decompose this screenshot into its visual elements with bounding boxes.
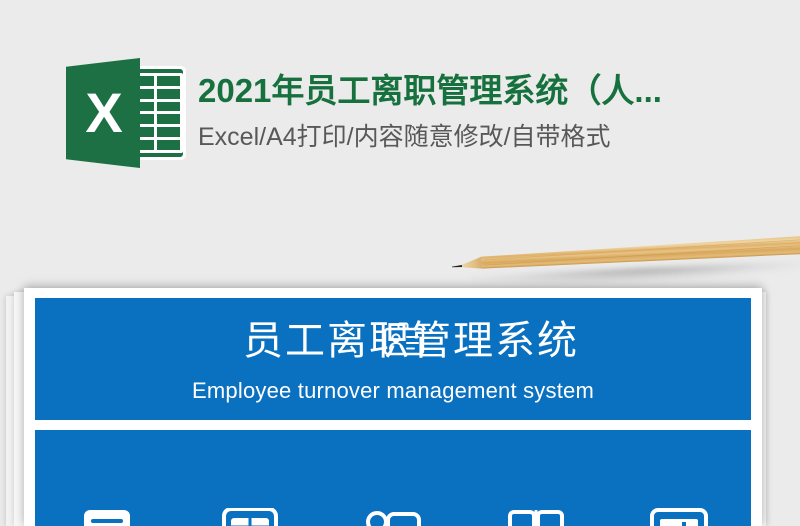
page-subtitle: Excel/A4打印/内容随意修改/自带格式 <box>198 119 662 157</box>
excel-grid-cell <box>157 127 181 137</box>
excel-grid-cell <box>157 89 181 99</box>
icon-cell[interactable] <box>619 508 739 526</box>
document-preview-page[interactable]: 员工离职管理系统 Employee turnover management sy… <box>24 288 762 526</box>
icon-cell[interactable] <box>476 508 596 526</box>
icon-cell[interactable] <box>47 508 167 526</box>
excel-grid-cell <box>157 102 181 112</box>
excel-grid-cell <box>157 140 181 150</box>
excel-grid-cell <box>157 114 181 124</box>
screen-report-icon[interactable] <box>650 508 708 526</box>
document-banner: 员工离职管理系统 Employee turnover management sy… <box>35 298 751 420</box>
form-table-icon[interactable] <box>221 508 279 526</box>
open-book-icon[interactable] <box>507 508 565 526</box>
document-icon-row <box>35 508 751 526</box>
excel-grid-cell <box>157 76 181 86</box>
banner-subtitle: Employee turnover management system <box>192 378 594 404</box>
excel-logo: X <box>62 58 190 168</box>
icon-cell[interactable] <box>333 508 453 526</box>
document-icon-panel <box>35 430 751 526</box>
pencil-shadow <box>470 261 800 290</box>
header-strip: X 2021年员工离职管理系统（人... Excel/A4打印/内容随意修改/自… <box>0 0 800 250</box>
banner-title-row: 员工离职管理系统 <box>207 318 579 364</box>
user-card-icon[interactable] <box>364 508 422 526</box>
header-row: X 2021年员工离职管理系统（人... Excel/A4打印/内容随意修改/自… <box>62 58 662 168</box>
icon-cell[interactable] <box>190 508 310 526</box>
excel-logo-letter: X <box>66 58 140 168</box>
banner-title: 员工离职管理系统 <box>207 318 579 364</box>
document-list-icon[interactable] <box>78 508 136 526</box>
header-text-block: 2021年员工离职管理系统（人... Excel/A4打印/内容随意修改/自带格… <box>198 70 662 157</box>
page-title: 2021年员工离职管理系统（人... <box>198 70 662 111</box>
